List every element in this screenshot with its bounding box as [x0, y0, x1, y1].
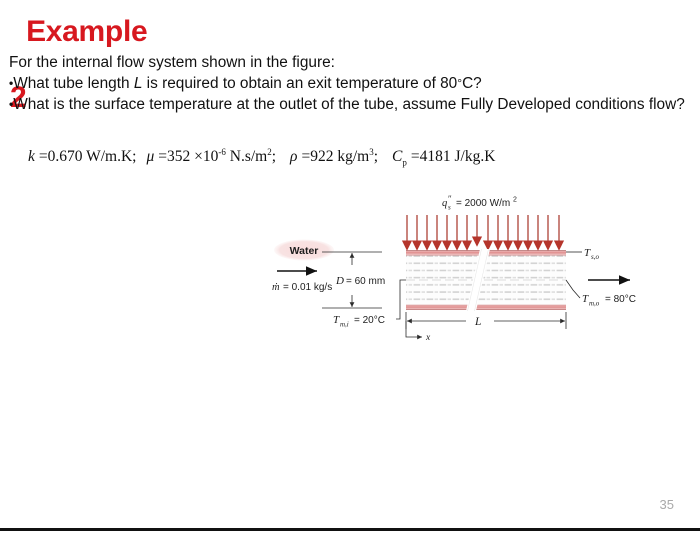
- inlet-temperature-subscript: m,i: [340, 321, 349, 329]
- heat-flux-subscript: s: [448, 204, 451, 212]
- fluid-properties-line: k=0.670 W/m.K;μ=352 ×10-6 N.s/m2;ρ=922 k…: [28, 147, 495, 167]
- density-terminator: ;: [374, 148, 378, 165]
- page-number: 35: [660, 497, 674, 512]
- surface-temperature-label: T s,o: [566, 247, 599, 261]
- heat-flux-symbol: q: [442, 198, 447, 209]
- specific-heat-value: =4181 J/kg.K: [411, 148, 496, 165]
- heat-flux-value-exponent: 2: [513, 197, 517, 204]
- viscosity-value-b: N.s/m: [226, 148, 267, 165]
- page-title-line1: Example: [26, 15, 147, 48]
- internal-flow-diagram: q s ″ = 2000 W/m 2: [270, 195, 680, 345]
- prompt-bullet-1-part-a: What tube length: [13, 75, 134, 92]
- inlet-temperature-symbol: T: [333, 314, 340, 326]
- prompt-bullet-1-part-b: is required to obtain an exit temperatur…: [142, 75, 457, 92]
- problem-statement: For the internal flow system shown in th…: [9, 52, 695, 115]
- length-dimension: L: [406, 312, 566, 329]
- prompt-bullet-2-text: What is the surface temperature at the o…: [13, 96, 685, 113]
- prompt-bullet-2: •What is the surface temperature at the …: [9, 94, 695, 115]
- viscosity-terminator: ;: [272, 148, 276, 165]
- prompt-intro: For the internal flow system shown in th…: [9, 52, 695, 73]
- prompt-bullet-1: •What tube length L is required to obtai…: [9, 73, 695, 94]
- outlet-temperature-symbol: T: [582, 293, 589, 305]
- specific-heat-symbol: C: [392, 148, 402, 165]
- density-symbol: ρ: [290, 148, 297, 165]
- viscosity-symbol: μ: [146, 148, 154, 165]
- mass-flow-rate-value: = 0.01 kg/s: [283, 282, 332, 293]
- viscosity-exponent: -6: [218, 147, 226, 157]
- inlet-temperature-value: = 20°C: [354, 315, 385, 326]
- length-label: L: [474, 316, 481, 328]
- mass-flow-rate-symbol: ṁ: [272, 282, 280, 293]
- outlet-temperature-subscript: m,o: [589, 300, 600, 308]
- diameter-symbol: D: [335, 275, 344, 287]
- thermal-conductivity-value: =0.670 W/m.K;: [39, 148, 137, 165]
- diameter-value: = 60 mm: [346, 276, 385, 287]
- inlet-temperature-label: T m,i = 20°C: [333, 280, 406, 329]
- density-value: =922 kg/m: [301, 148, 369, 165]
- heat-flux-prime-marks: ″: [448, 195, 452, 204]
- diameter-dimension: D = 60 mm: [322, 252, 385, 308]
- footer-divider: [0, 528, 700, 531]
- fluid-label: Water: [290, 245, 319, 257]
- prompt-bullet-1-part-c: C?: [462, 75, 482, 92]
- viscosity-value-a: =352 ×10: [158, 148, 218, 165]
- specific-heat-subscript: p: [402, 157, 407, 167]
- tube-body: [406, 249, 566, 311]
- heat-flux-value: = 2000 W/m: [456, 198, 510, 209]
- heat-flux-arrows: [407, 215, 559, 249]
- outlet-temperature-value: = 80°C: [605, 294, 636, 305]
- outlet-temperature-label: T m,o = 80°C: [566, 280, 636, 308]
- x-axis-label: x: [425, 333, 431, 343]
- fluid-label-group: Water: [274, 240, 334, 261]
- surface-temperature-symbol: T: [584, 247, 591, 259]
- thermal-conductivity-symbol: k: [28, 148, 35, 165]
- surface-temperature-subscript: s,o: [591, 253, 599, 261]
- x-axis-indicator: x: [406, 321, 431, 343]
